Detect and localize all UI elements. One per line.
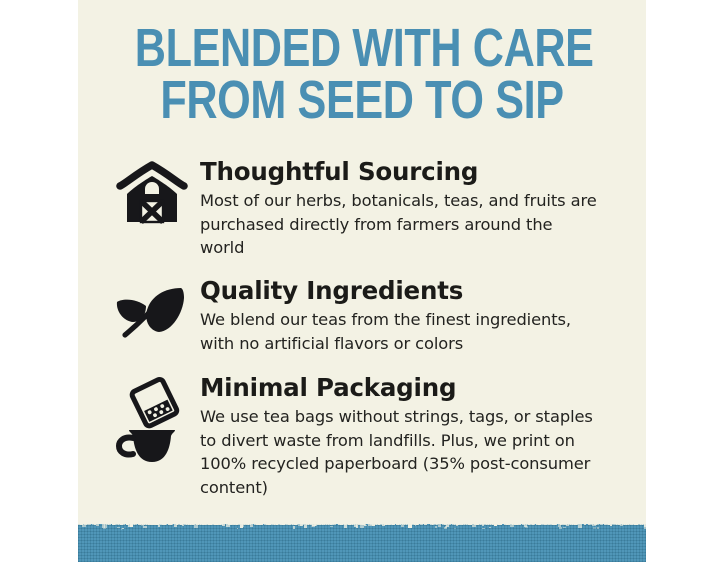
footer-color-band xyxy=(78,524,646,562)
feature-body: We blend our teas from the finest ingred… xyxy=(200,308,600,355)
feature-title: Quality Ingredients xyxy=(200,277,634,305)
feature-item-quality-ingredients: Quality Ingredients We blend our teas fr… xyxy=(104,277,634,365)
cream-panel: BLENDED WITH CARE FROM SEED TO SIP xyxy=(78,0,646,562)
page-title: BLENDED WITH CARE FROM SEED TO SIP xyxy=(135,22,589,126)
feature-item-minimal-packaging: Minimal Packaging We use tea bags withou… xyxy=(104,374,634,499)
feature-title: Minimal Packaging xyxy=(200,374,634,402)
infographic-canvas: BLENDED WITH CARE FROM SEED TO SIP xyxy=(0,0,720,562)
feature-text-block: Minimal Packaging We use tea bags withou… xyxy=(200,374,634,499)
band-torn-edge xyxy=(78,518,646,528)
feature-body: We use tea bags without strings, tags, o… xyxy=(200,405,610,499)
page-title-line-1: BLENDED WITH CARE xyxy=(135,22,589,74)
band-texture xyxy=(78,524,646,562)
teabag-mug-icon xyxy=(104,374,200,456)
leaves-icon xyxy=(104,277,200,365)
feature-item-thoughtful-sourcing: Thoughtful Sourcing Most of our herbs, b… xyxy=(104,158,634,260)
page-title-line-2: FROM SEED TO SIP xyxy=(135,74,589,126)
feature-title: Thoughtful Sourcing xyxy=(200,158,634,186)
feature-text-block: Quality Ingredients We blend our teas fr… xyxy=(200,277,634,355)
barn-icon xyxy=(104,158,200,240)
feature-body: Most of our herbs, botanicals, teas, and… xyxy=(200,189,600,260)
feature-text-block: Thoughtful Sourcing Most of our herbs, b… xyxy=(200,158,634,260)
